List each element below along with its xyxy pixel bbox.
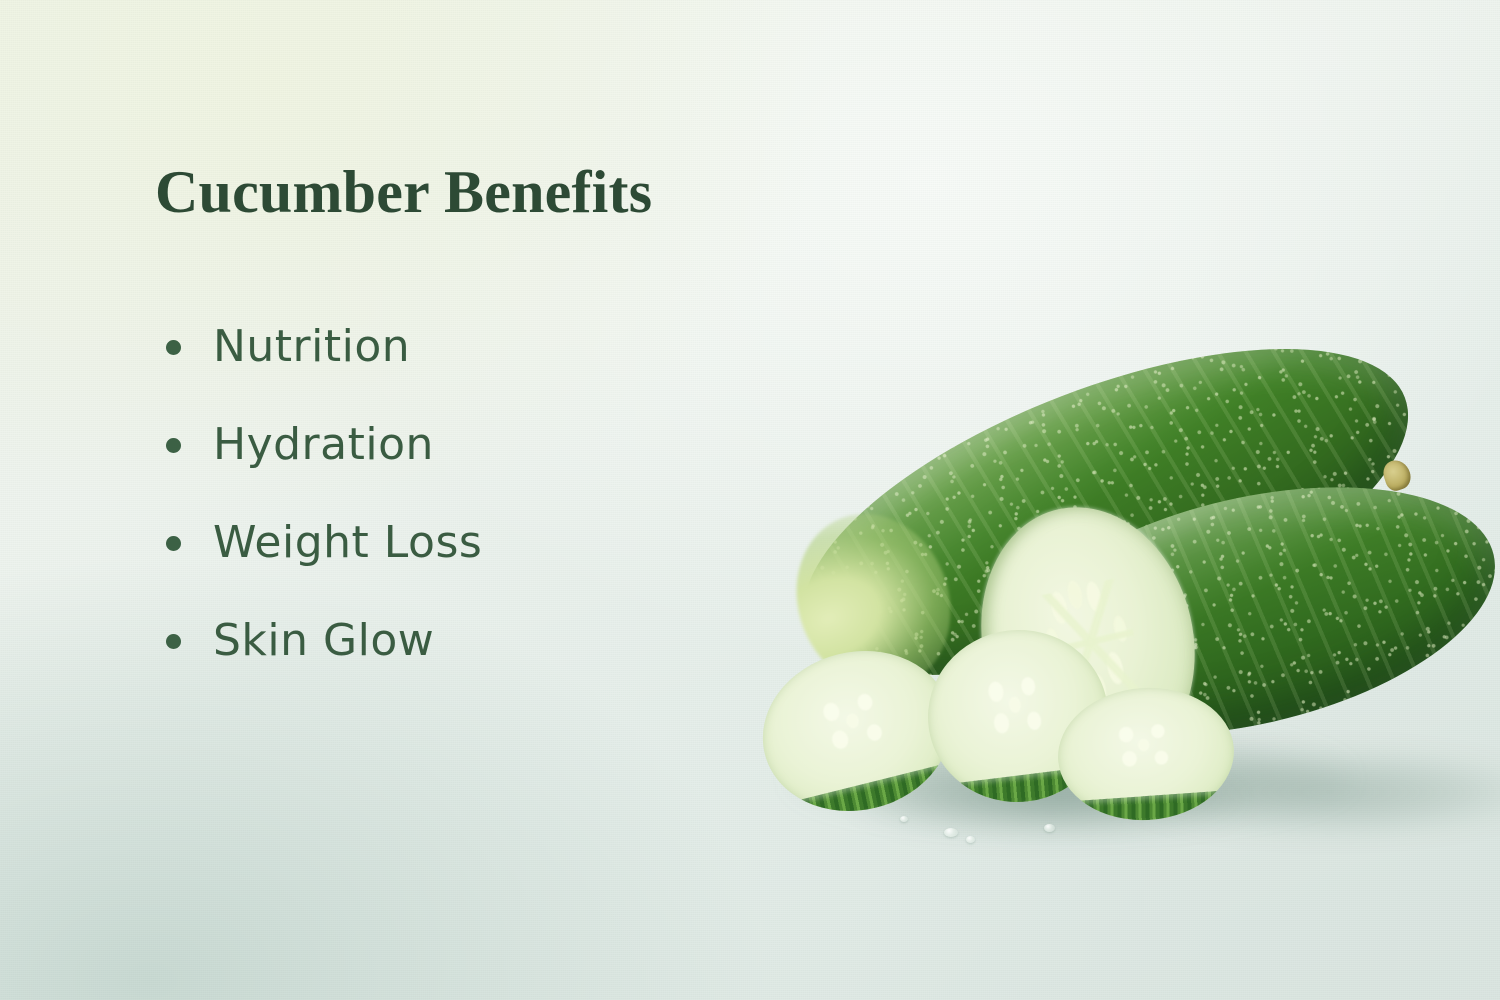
list-item-label: Hydration: [213, 423, 434, 467]
water-droplet-icon: [900, 816, 908, 822]
slice-seeds: [802, 677, 907, 767]
list-item-label: Weight Loss: [213, 521, 482, 565]
slice-seeds: [969, 663, 1064, 749]
benefits-list: Nutrition Hydration Weight Loss Skin Glo…: [166, 298, 482, 690]
list-item-label: Skin Glow: [213, 619, 434, 663]
bullet-dot-icon: [166, 438, 181, 453]
list-item-label: Nutrition: [213, 325, 410, 369]
cucumber-photo: [700, 330, 1500, 890]
bullet-dot-icon: [166, 634, 181, 649]
list-item-hydration[interactable]: Hydration: [166, 396, 482, 494]
water-droplet-icon: [1044, 824, 1055, 832]
slide-canvas: Cucumber Benefits Nutrition Hydration We…: [0, 0, 1500, 1000]
page-title: Cucumber Benefits: [155, 162, 652, 222]
bullet-dot-icon: [166, 340, 181, 355]
water-droplet-icon: [944, 828, 958, 837]
list-item-skin-glow[interactable]: Skin Glow: [166, 592, 482, 690]
list-item-nutrition[interactable]: Nutrition: [166, 298, 482, 396]
bullet-dot-icon: [166, 536, 181, 551]
water-droplet-icon: [966, 836, 975, 843]
slice-seeds: [1101, 714, 1189, 778]
list-item-weight-loss[interactable]: Weight Loss: [166, 494, 482, 592]
